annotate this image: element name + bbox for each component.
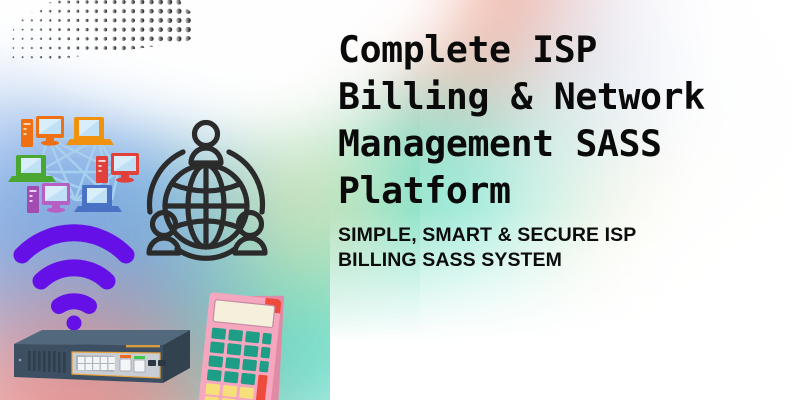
computer-network-mesh-icon — [8, 116, 139, 213]
switch-led-green — [134, 356, 145, 359]
page-subtitle: SIMPLE, SMART & SECURE ISP BILLING SASS … — [338, 223, 778, 273]
switch-led-orange — [120, 355, 131, 358]
node-green-laptop — [8, 155, 56, 182]
globe-users-icon — [149, 123, 265, 259]
node-purple-desktop — [27, 183, 70, 213]
user-icon-top — [191, 123, 221, 164]
promo-banner: Complete ISP Billing & Network Managemen… — [0, 0, 800, 400]
network-switch-icon — [14, 330, 190, 383]
globe-icon — [165, 165, 247, 247]
calculator-icon — [197, 288, 290, 400]
node-orange-desktop — [21, 116, 64, 147]
node-orange-laptop — [66, 117, 114, 145]
arc-bottom — [177, 249, 235, 258]
page-title: Complete ISP Billing & Network Managemen… — [338, 26, 778, 214]
wifi-signal-icon — [22, 233, 126, 331]
copy-block: Complete ISP Billing & Network Managemen… — [338, 26, 778, 273]
isp-illustration — [0, 0, 330, 400]
user-icon-left — [149, 213, 179, 254]
user-icon-right — [235, 213, 265, 254]
